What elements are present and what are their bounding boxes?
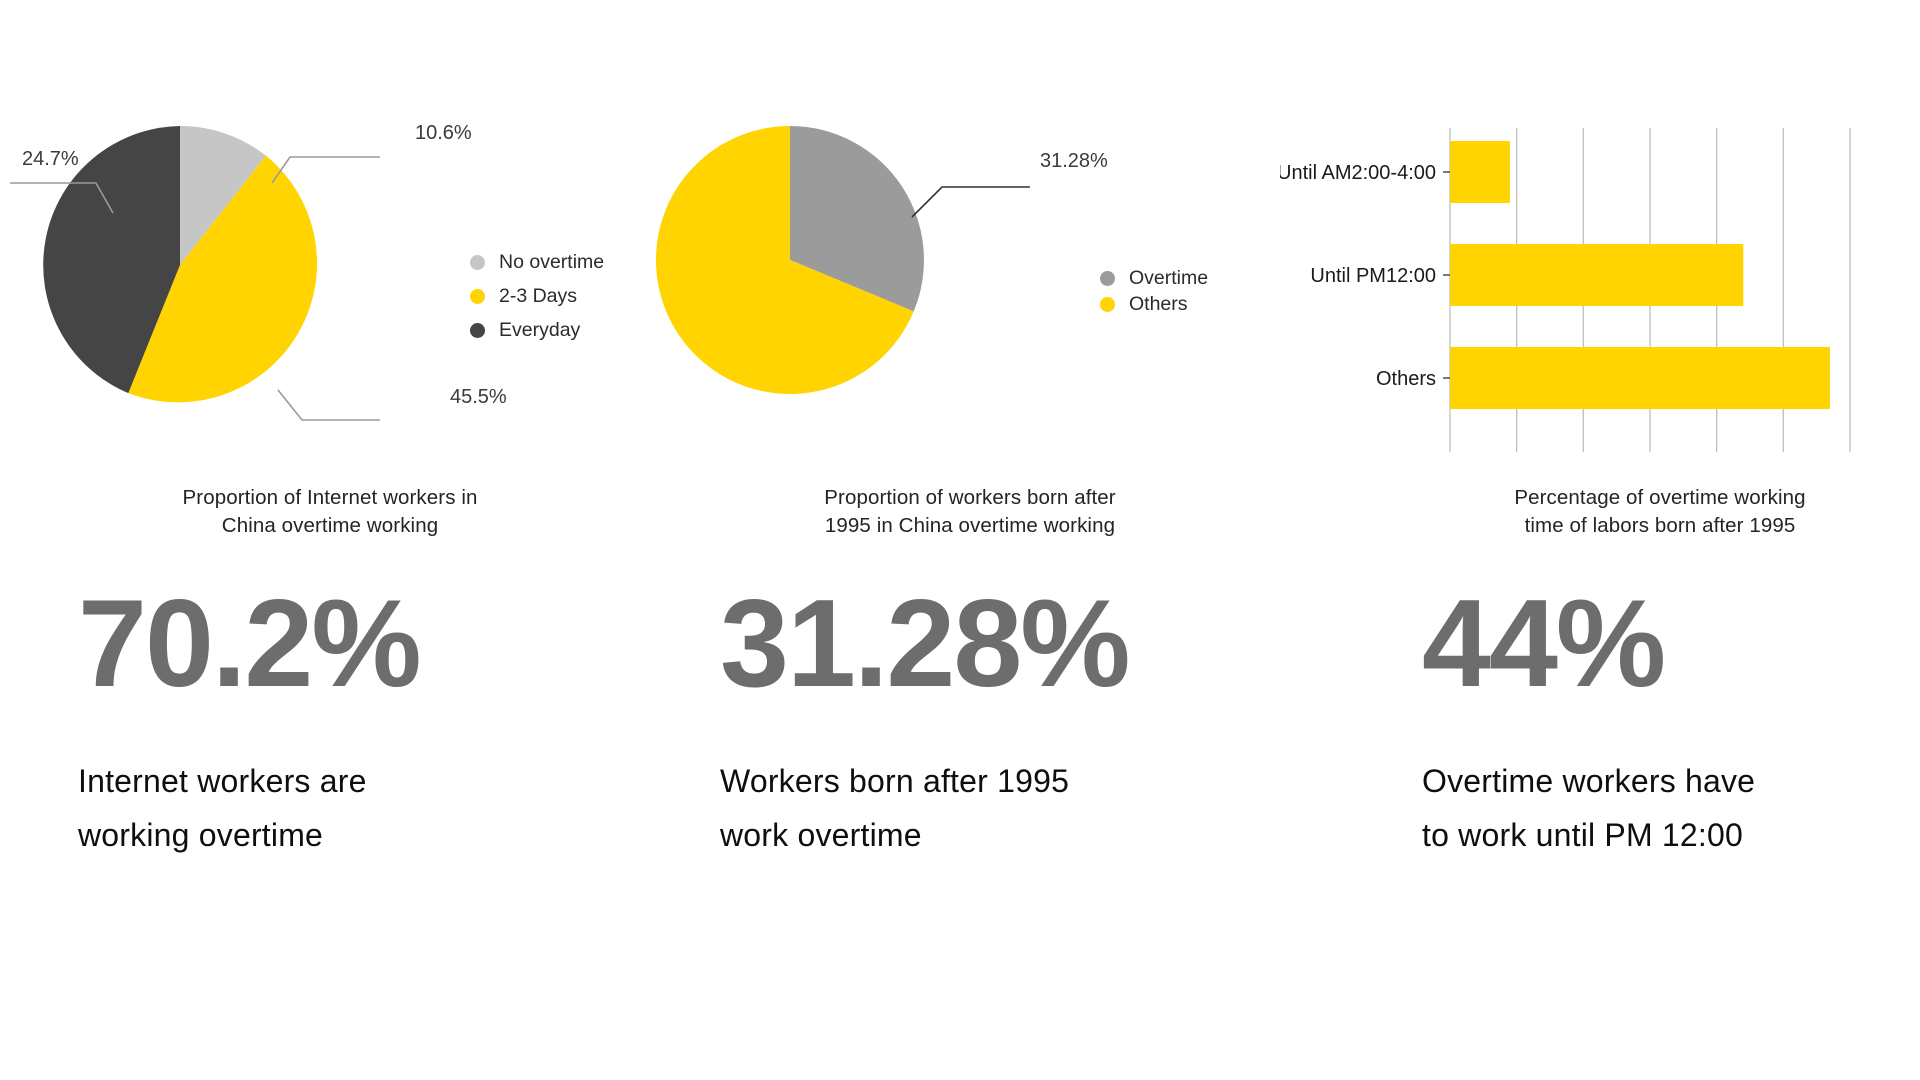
legend-swatch-icon-others xyxy=(1100,297,1115,312)
legend-born-after-1995: Overtime Others xyxy=(1100,265,1208,317)
legend-label-overtime: Overtime xyxy=(1129,267,1208,290)
stat-desc-line-2: working overtime xyxy=(78,808,538,862)
legend-label-no-overtime: No overtime xyxy=(499,251,604,274)
caption-line-2: 1995 in China overtime working xyxy=(660,512,1280,540)
legend-label-2-3-days: 2-3 Days xyxy=(499,285,577,308)
chart-column-overtime-time: Until AM2:00-4:00 Until PM12:00 Others 0… xyxy=(1280,0,1920,560)
bar-until-am2-4 xyxy=(1450,141,1510,203)
chart-column-internet-workers: 10.6% 24.7% 45.5% No overtime 2-3 Days E… xyxy=(0,0,660,560)
legend-item-others[interactable]: Others xyxy=(1100,291,1208,317)
legend-item-overtime[interactable]: Overtime xyxy=(1100,265,1208,291)
bar-xtick-30: 30 xyxy=(1639,467,1661,470)
stat-description-internet-workers: Internet workers are working overtime xyxy=(78,754,538,862)
legend-item-no-overtime[interactable]: No overtime xyxy=(470,245,604,279)
pie-callout-45-5: 45.5% xyxy=(450,386,507,409)
stat-block-internet-workers: 70.2% Internet workers are working overt… xyxy=(78,560,638,862)
legend-item-2-3-days[interactable]: 2-3 Days xyxy=(470,279,604,313)
stat-desc-line-1: Workers born after 1995 xyxy=(720,754,1180,808)
bar-until-pm12 xyxy=(1450,244,1743,306)
stat-desc-line-1: Overtime workers have xyxy=(1422,754,1882,808)
legend-swatch-icon-2-3-days xyxy=(470,289,485,304)
caption-line-1: Proportion of workers born after xyxy=(660,484,1280,512)
legend-item-everyday[interactable]: Everyday xyxy=(470,313,604,347)
bar-category-label-until-pm12: Until PM12:00 xyxy=(1310,265,1436,287)
stat-number-44: 44% xyxy=(1422,582,1920,706)
stat-block-born-after-1995: 31.28% Workers born after 1995 work over… xyxy=(720,560,1280,862)
bar-others xyxy=(1450,347,1830,409)
leader-line-31-28 xyxy=(912,187,1030,217)
stat-block-overtime-until-pm12: 44% Overtime workers have to work until … xyxy=(1422,560,1920,862)
bar-xtick-60: 60 xyxy=(1839,467,1861,470)
stats-row: 70.2% Internet workers are working overt… xyxy=(0,560,1920,1080)
pie-callout-31-28: 31.28% xyxy=(1040,150,1108,173)
stat-description-overtime-until-pm12: Overtime workers have to work until PM 1… xyxy=(1422,754,1882,862)
stat-description-born-after-1995: Workers born after 1995 work overtime xyxy=(720,754,1180,862)
legend-swatch-icon-overtime xyxy=(1100,271,1115,286)
stat-number-70-2: 70.2% xyxy=(78,582,638,706)
bar-xtick-10: 10 xyxy=(1506,467,1528,470)
legend-swatch-icon-no-overtime xyxy=(470,255,485,270)
stat-desc-line-2: to work until PM 12:00 xyxy=(1422,808,1882,862)
stat-number-31-28: 31.28% xyxy=(720,582,1280,706)
caption-overtime-time: Percentage of overtime working time of l… xyxy=(1280,484,1920,540)
caption-line-1: Percentage of overtime working xyxy=(1340,484,1920,512)
bar-chart-svg: Until AM2:00-4:00 Until PM12:00 Others 0… xyxy=(1280,0,1920,470)
caption-line-2: time of labors born after 1995 xyxy=(1340,512,1920,540)
caption-line-2: China overtime working xyxy=(0,512,660,540)
stat-desc-line-1: Internet workers are xyxy=(78,754,538,808)
bar-xtick-40: 40 xyxy=(1706,467,1728,470)
bar-category-label-until-am2-4: Until AM2:00-4:00 xyxy=(1280,162,1436,184)
stat-desc-line-2: work overtime xyxy=(720,808,1180,862)
bar-xtick-50: 50 xyxy=(1772,467,1794,470)
pie-chart-internet-workers: 10.6% 24.7% 45.5% No overtime 2-3 Days E… xyxy=(0,0,660,470)
charts-row: 10.6% 24.7% 45.5% No overtime 2-3 Days E… xyxy=(0,0,1920,560)
legend-label-others: Others xyxy=(1129,293,1188,316)
bar-xtick-0: 0 xyxy=(1444,467,1455,470)
leader-line-45-5 xyxy=(278,390,380,420)
caption-line-1: Proportion of Internet workers in xyxy=(0,484,660,512)
bar-category-label-others: Others xyxy=(1376,368,1436,390)
bar-xtick-20: 20 xyxy=(1572,467,1594,470)
pie-callout-24-7: 24.7% xyxy=(22,148,79,171)
legend-internet-workers: No overtime 2-3 Days Everyday xyxy=(470,245,604,347)
bar-chart-overtime-time: Until AM2:00-4:00 Until PM12:00 Others 0… xyxy=(1280,0,1920,470)
pie-born-after-1995-svg xyxy=(590,95,1050,425)
legend-label-everyday: Everyday xyxy=(499,319,580,342)
chart-column-born-after-1995: 31.28% Overtime Others Proportion of wor… xyxy=(660,0,1280,560)
legend-swatch-icon-everyday xyxy=(470,323,485,338)
category-ticks xyxy=(1443,172,1450,378)
pie-internet-workers-svg xyxy=(10,95,450,435)
pie-callout-10-6: 10.6% xyxy=(415,122,472,145)
pie-chart-born-after-1995: 31.28% Overtime Others xyxy=(660,0,1280,470)
